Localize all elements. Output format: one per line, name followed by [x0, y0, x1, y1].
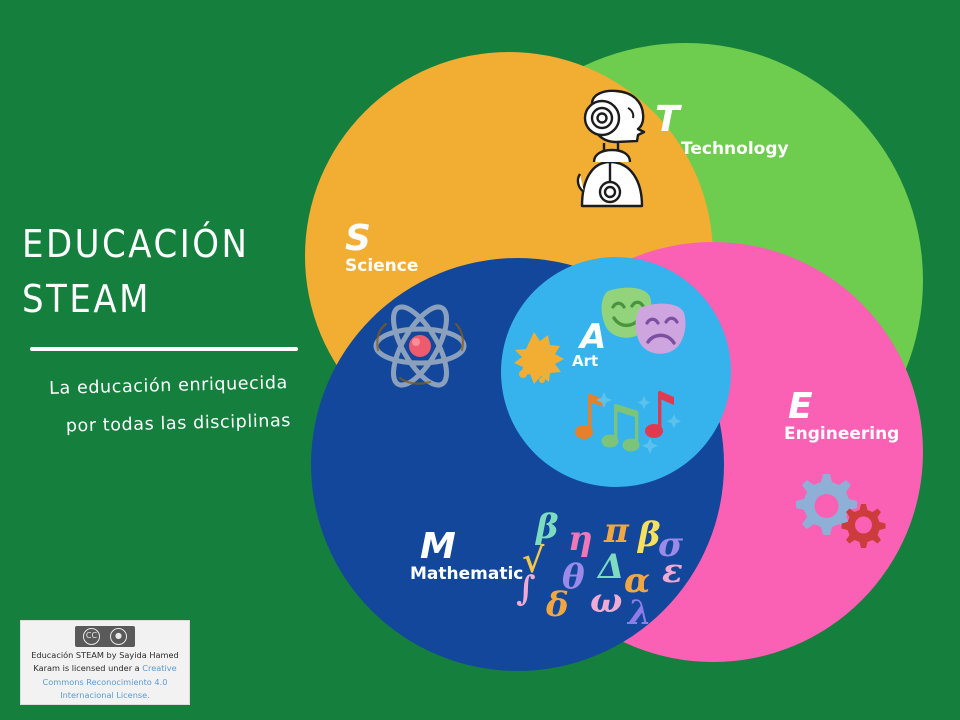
mathematic-letter: M — [420, 530, 523, 564]
title-line-1: EDUCACIÓN — [22, 218, 302, 273]
svg-text:δ: δ — [545, 585, 569, 625]
math-symbols-icon: β η π β √ θ Δ α ε δ ω λ ∫ σ — [512, 508, 690, 628]
title-line-2: STEAM — [22, 273, 302, 328]
svg-text:λ: λ — [626, 593, 652, 628]
page-subtitle: La educación enriquecida por todas las d… — [23, 364, 315, 446]
title-divider — [30, 347, 298, 351]
label-engineering: E Engineering — [788, 390, 899, 444]
paint-splash-icon — [512, 328, 578, 386]
steam-diagram-poster: EDUCACIÓN STEAM La educación enriquecida… — [0, 0, 960, 720]
science-letter: S — [345, 222, 418, 256]
gears-icon — [785, 468, 893, 554]
engineering-letter: E — [788, 390, 899, 424]
creative-commons-badge-icon: CC ● — [75, 626, 135, 647]
license-text: Educación STEAM by Sayida Hamed Karam is… — [21, 649, 189, 702]
theater-masks-icon — [596, 285, 688, 363]
art-letter: A — [580, 322, 606, 354]
mathematic-label: Mathematic — [410, 564, 523, 584]
by-person-icon: ● — [110, 628, 127, 645]
robot-icon — [558, 88, 662, 212]
page-title: EDUCACIÓN STEAM — [22, 218, 302, 328]
technology-letter: T — [655, 103, 789, 137]
svg-text:π: π — [603, 511, 630, 551]
license-box: CC ● Educación STEAM by Sayida Hamed Kar… — [20, 620, 190, 705]
svg-text:η: η — [568, 519, 593, 559]
sad-mask-icon — [636, 304, 686, 354]
science-label: Science — [345, 256, 418, 276]
left-text-panel: EDUCACIÓN STEAM La educación enriquecida… — [0, 0, 310, 720]
subtitle-line-2: por todas las disciplinas — [24, 402, 315, 447]
music-notes-icon — [572, 388, 684, 458]
subtitle-line-1: La educación enriquecida — [49, 373, 288, 399]
label-mathematic: M Mathematic — [420, 530, 523, 584]
svg-text:σ: σ — [658, 525, 684, 565]
atom-icon — [370, 300, 470, 392]
svg-text:β: β — [636, 515, 661, 555]
music-note-green — [602, 404, 640, 452]
engineering-label: Engineering — [784, 424, 899, 444]
label-technology: T Technology — [655, 103, 789, 159]
cc-icon: CC — [83, 628, 100, 645]
music-note-red — [645, 391, 674, 438]
label-science: S Science — [345, 222, 418, 276]
technology-label: Technology — [681, 139, 789, 159]
label-art: A Art — [580, 322, 606, 370]
svg-text:ω: ω — [590, 581, 622, 621]
